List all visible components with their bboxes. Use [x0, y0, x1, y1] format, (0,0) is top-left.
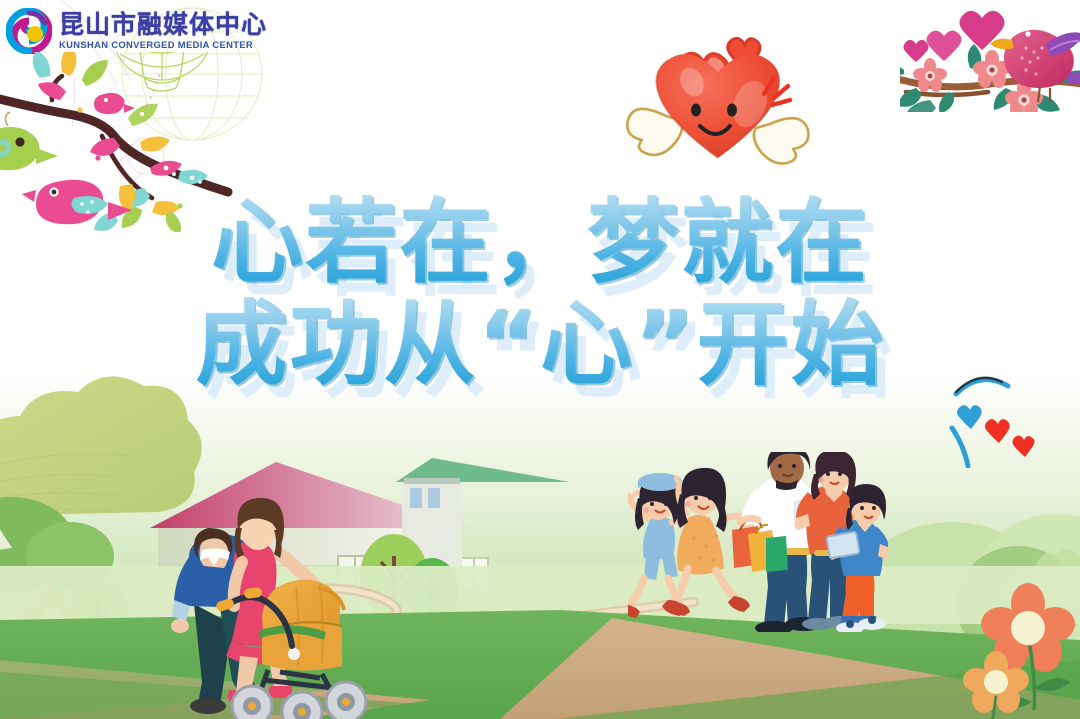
logo-mark-icon	[6, 8, 52, 54]
logo-name-en: KUNSHAN CONVERGED MEDIA CENTER	[59, 40, 267, 49]
poster-canvas: 昆山市融媒体中心 KUNSHAN CONVERGED MEDIA CENTER	[0, 0, 1080, 719]
sky-background	[0, 0, 1080, 719]
logo-name-cn: 昆山市融媒体中心	[59, 12, 267, 37]
brand-logo[interactable]: 昆山市融媒体中心 KUNSHAN CONVERGED MEDIA CENTER	[6, 8, 267, 54]
